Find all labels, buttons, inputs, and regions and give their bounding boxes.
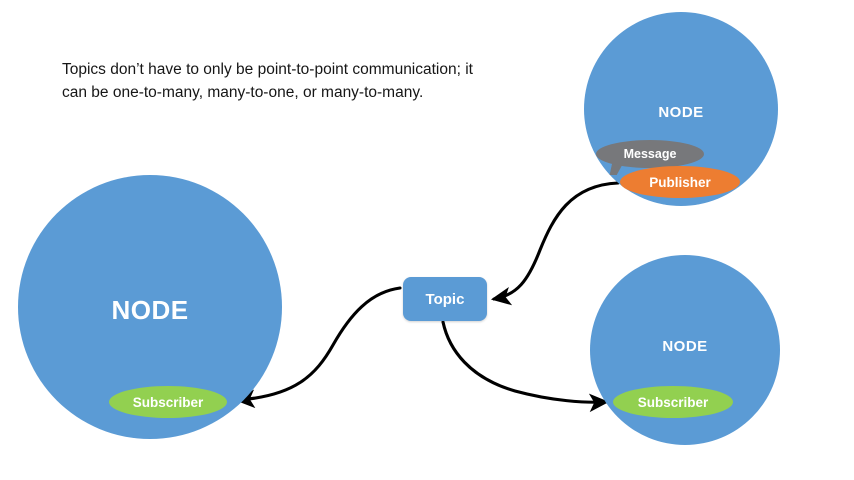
node-bottom-right-label: NODE <box>590 338 780 355</box>
publisher[interactable]: Publisher <box>620 166 740 198</box>
node-left-label: NODE <box>18 295 282 326</box>
node-top-right-label: NODE <box>584 104 778 121</box>
arrow-publisher-to-topic <box>494 183 618 299</box>
arrow-topic-to-right-subscriber <box>443 322 606 402</box>
slide-canvas: Topics don’t have to only be point-to-po… <box>0 0 854 480</box>
message-bubble[interactable]: Message <box>596 140 704 168</box>
subscriber-right[interactable]: Subscriber <box>613 386 733 418</box>
caption-text: Topics don’t have to only be point-to-po… <box>62 58 482 105</box>
subscriber-left[interactable]: Subscriber <box>109 386 227 418</box>
topic-box[interactable]: Topic <box>403 277 487 321</box>
